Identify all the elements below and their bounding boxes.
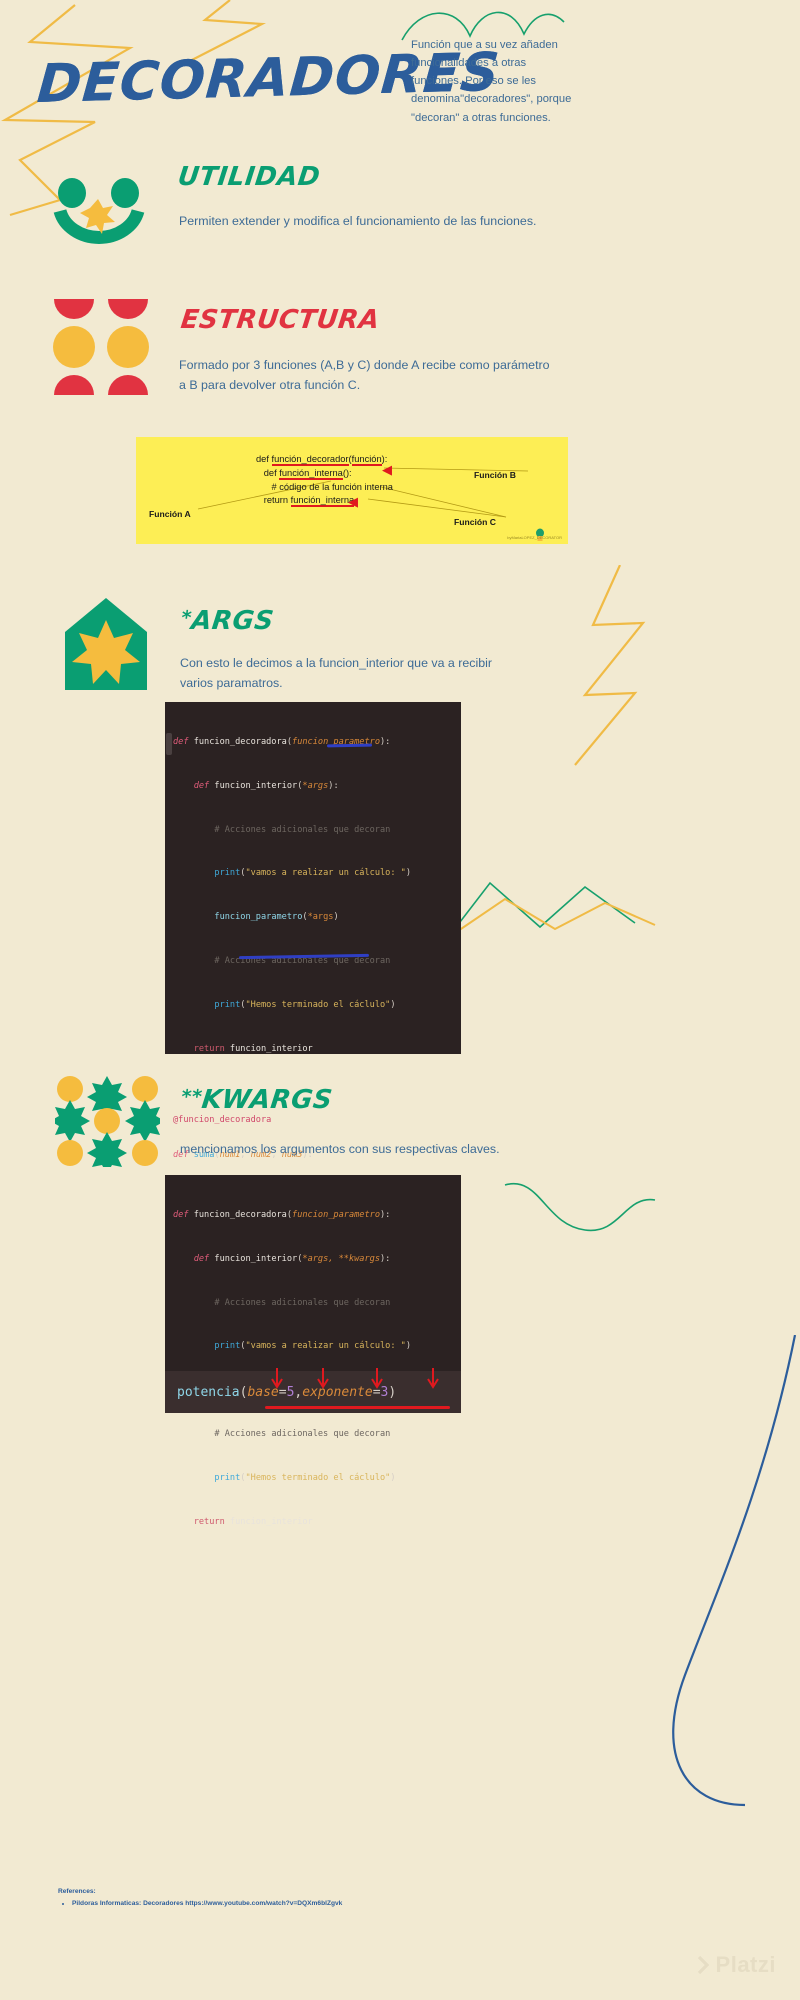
diagram-label-funcion-c: Función C — [454, 517, 496, 527]
code-line: print("vamos a realizar un cálculo: ") — [165, 1336, 461, 1358]
args-heading-text: ARGS — [190, 606, 276, 636]
orange-spike-decoration — [565, 565, 800, 795]
section-body-args: Con esto le decimos a la funcion_interio… — [180, 654, 510, 694]
diagram-watermark: byMariaLOPEZ_DECORATOR — [507, 535, 562, 540]
diagram-line2-name: función_interna — [279, 468, 343, 480]
zigzag-lines-decoration — [0, 0, 320, 230]
smiley-icon — [50, 175, 160, 255]
section-heading-estructura: ESTRUCTURA — [179, 305, 381, 335]
kwargs-star: ** — [180, 1086, 204, 1108]
references-heading: References: — [58, 1886, 342, 1898]
kwargs-heading-text: KWARGS — [200, 1085, 334, 1115]
code-line: @funcion_decoradora — [165, 1114, 461, 1127]
code-line: print("Hemos terminado el cáclulo") — [165, 995, 461, 1017]
diagram-line1-name: función_decorador — [272, 454, 349, 466]
code-line: print("Hemos terminado el cáclulo") — [165, 1468, 461, 1490]
dots-stars-grid-icon — [55, 1075, 160, 1167]
code-line: print("vamos a realizar un cálculo: ") — [165, 863, 461, 885]
house-star-icon — [65, 598, 147, 690]
section-heading-kwargs: **KWARGS — [179, 1085, 334, 1115]
section-heading-utilidad: UTILIDAD — [176, 162, 322, 192]
diagram-line1-pre: def — [256, 454, 272, 464]
platzi-watermark-text: Platzi — [716, 1952, 776, 1977]
reference-item[interactable]: Pildoras Informaticas: Decoradores https… — [72, 1898, 342, 1910]
intro-paragraph: Función que a su vez añaden funcionalida… — [411, 36, 579, 127]
code-line: def funcion_interior(*args, **kwargs): — [165, 1249, 461, 1271]
green-wave-bottom-decoration — [500, 1175, 660, 1265]
section-body-estructura: Formado por 3 funciones (A,B y C) donde … — [179, 356, 559, 396]
orange-mountain-decoration — [455, 895, 675, 945]
section-heading-args: *ARGS — [179, 606, 275, 636]
diagram-line1-arg: función — [352, 454, 382, 466]
code-line: funcion_parametro(*args) — [165, 907, 461, 929]
diagram-line3: # código de la función interna — [256, 482, 393, 492]
code-line: def funcion_decoradora(funcion_parametro… — [165, 1205, 461, 1227]
platzi-logo-icon — [696, 1955, 716, 1977]
diagram-arrow-b: ◀ — [382, 463, 392, 476]
references: References: Pildoras Informaticas: Decor… — [58, 1886, 342, 1909]
args-code-block: def funcion_decoradora(funcion_parametro… — [165, 702, 461, 1054]
four-dots-icon — [50, 295, 155, 400]
diagram-arrow-c: ◀ — [348, 495, 358, 508]
code-line: return funcion_interior — [165, 1039, 461, 1061]
potencia-underline — [265, 1406, 450, 1409]
diagram-line4-name: función_interna — [291, 495, 355, 507]
code-line: return funcion_interior — [165, 1512, 461, 1534]
code-line: # Acciones adicionales que decoran — [165, 1293, 461, 1315]
structure-diagram: def función_decorador(función): def func… — [136, 437, 568, 544]
infographic-page: DECORADORES Función que a su vez añaden … — [0, 0, 800, 2000]
code-line: # Acciones adicionales que decoran — [165, 1424, 461, 1446]
code-line: def funcion_decoradora(funcion_parametro… — [165, 732, 461, 754]
green-mountain-decoration — [445, 875, 645, 945]
diagram-line2-pre: def — [256, 468, 279, 478]
platzi-watermark: Platzi — [696, 1952, 776, 1978]
diagram-label-funcion-a: Función A — [149, 509, 191, 519]
diagram-label-funcion-b: Función B — [474, 470, 516, 480]
section-body-utilidad: Permiten extender y modifica el funciona… — [179, 212, 559, 232]
code-line: def funcion_interior(*args): — [165, 776, 461, 798]
diagram-line4-pre: return — [256, 495, 291, 505]
diagram-line2-close: (): — [343, 468, 352, 478]
code-line: # Acciones adicionales que decoran — [165, 820, 461, 842]
blue-curve-decoration — [575, 1335, 800, 1855]
section-body-kwargs: mencionamos los argumentos con sus respe… — [180, 1140, 560, 1160]
